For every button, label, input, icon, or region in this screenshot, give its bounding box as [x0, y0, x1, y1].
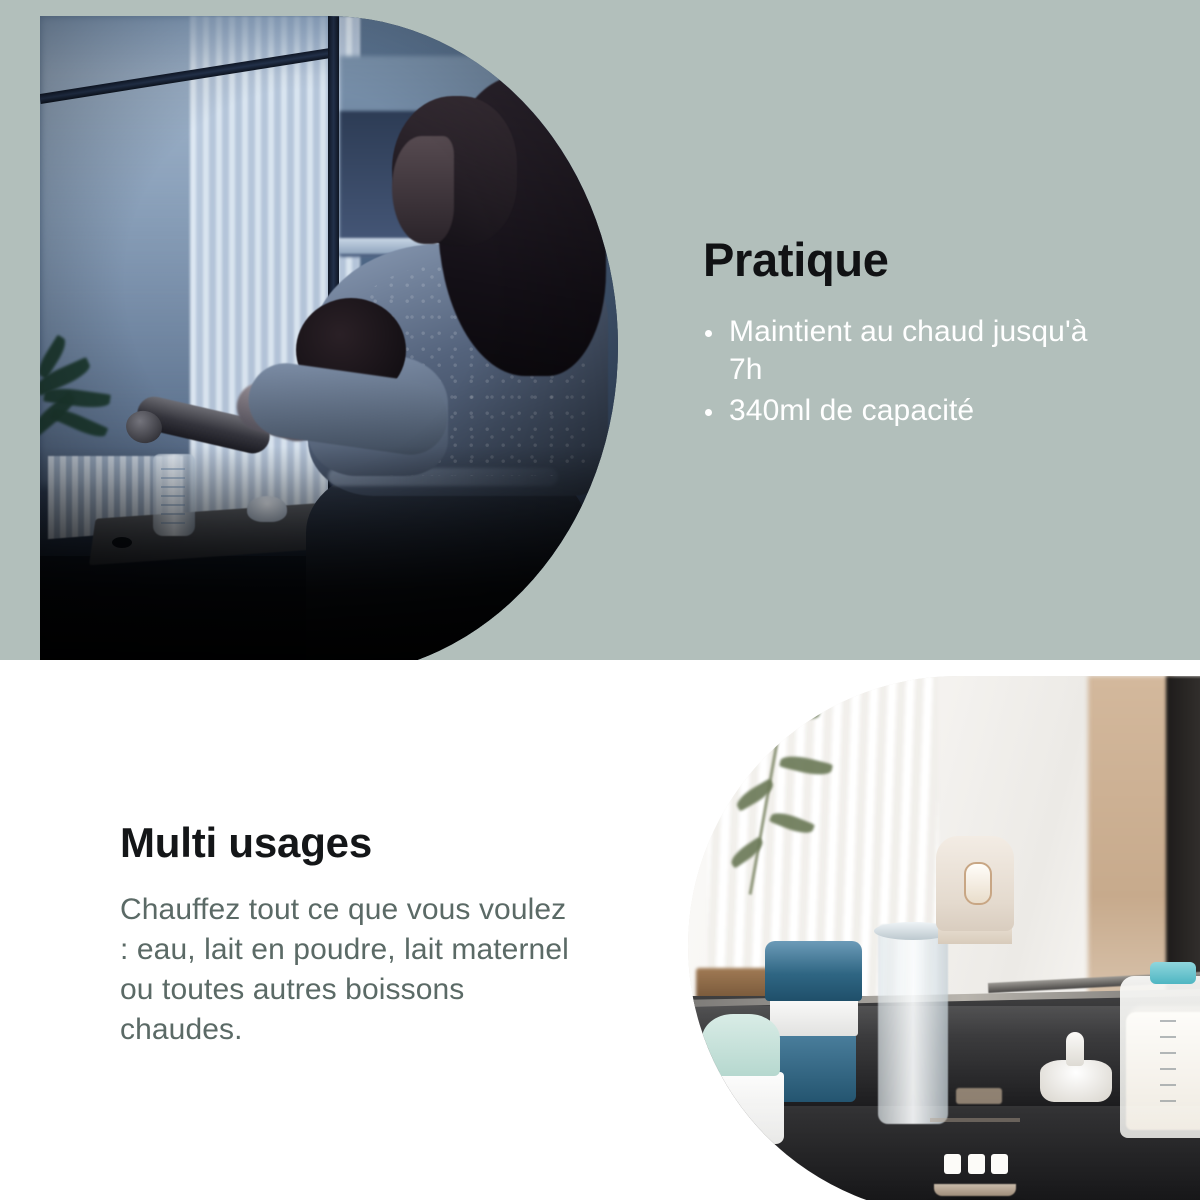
- product-photo-countertop: [688, 676, 1200, 1200]
- product-logo: [956, 1088, 1002, 1104]
- bottle-nipple-ring: [1040, 1060, 1112, 1102]
- top-heading: Pratique: [703, 236, 1123, 283]
- photo-scene-bottom: [688, 676, 1200, 1200]
- bottom-text-block: Multi usages Chauffez tout ce que vous v…: [120, 822, 580, 1050]
- feature-bullet-list: Maintient au chaud jusqu'à 7h 340ml de c…: [703, 313, 1123, 430]
- milk-bag-measure-scale: [1160, 1020, 1176, 1116]
- formula-container-middle: [770, 998, 858, 1036]
- mint-container-top: [702, 1014, 780, 1076]
- formula-container-bottom: [772, 1034, 856, 1102]
- eucalyptus-branch: [708, 684, 868, 914]
- bottom-body-text: Chauffez tout ce que vous voulez : eau, …: [120, 890, 580, 1050]
- bottom-feature-section: Multi usages Chauffez tout ce que vous v…: [0, 660, 1200, 1200]
- photo-scene-top: [40, 16, 618, 660]
- photo-bottom-fade: [40, 446, 618, 660]
- formula-container-lid: [765, 941, 862, 1001]
- bottom-heading: Multi usages: [120, 822, 580, 864]
- lifestyle-photo-night-feeding: [40, 16, 618, 660]
- feature-bullet-item: 340ml de capacité: [703, 392, 1123, 430]
- bottle-nipple-tip: [1066, 1032, 1084, 1066]
- milk-bag-teal-cap: [1150, 962, 1196, 984]
- top-feature-section: Pratique Maintient au chaud jusqu'à 7h 3…: [0, 0, 1200, 660]
- feature-bullet-item: Maintient au chaud jusqu'à 7h: [703, 313, 1123, 390]
- product-lock-button: [964, 862, 992, 905]
- top-text-block: Pratique Maintient au chaud jusqu'à 7h 3…: [703, 236, 1123, 432]
- counter-reflection: [688, 1106, 1200, 1200]
- product-feature-page: Pratique Maintient au chaud jusqu'à 7h 3…: [0, 0, 1200, 1200]
